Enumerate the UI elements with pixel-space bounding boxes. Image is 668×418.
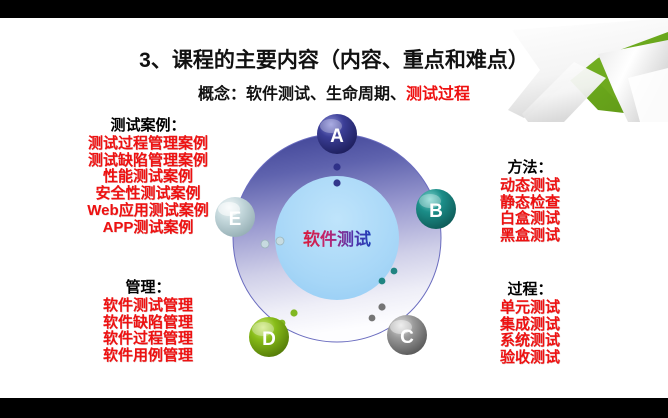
page-title: 3、课程的主要内容（内容、重点和难点） [0, 44, 668, 74]
node-a-label: A [330, 126, 344, 147]
block-item: 验收测试 [440, 350, 620, 367]
letterbox-bottom [0, 398, 668, 418]
block-item: 黑盒测试 [440, 228, 620, 245]
block-item: 系统测试 [440, 333, 620, 350]
cycle-diagram: 软件测试 A B C [212, 113, 462, 363]
subtitle-highlight: 测试过程 [406, 86, 470, 103]
node-e-label: E [229, 209, 242, 230]
block-management: 管理： 软件测试管理 软件缺陷管理 软件过程管理 软件用例管理 [58, 280, 238, 365]
slide-root: 3、课程的主要内容（内容、重点和难点） 概念：软件测试、生命周期、测试过程 测试… [0, 0, 668, 418]
letterbox-top [0, 0, 668, 18]
block-item: 软件过程管理 [58, 331, 238, 348]
node-b-label: B [429, 201, 443, 222]
node-e[interactable]: E [215, 197, 255, 237]
block-item: 动态测试 [440, 178, 620, 195]
block-item: 白盒测试 [440, 211, 620, 228]
block-item: 软件缺陷管理 [58, 315, 238, 332]
block-item: 静态检查 [440, 195, 620, 212]
block-item: 软件测试管理 [58, 298, 238, 315]
subtitle-plain: 概念：软件测试、生命周期、 [198, 86, 406, 103]
block-process: 过程： 单元测试 集成测试 系统测试 验收测试 [440, 282, 620, 367]
node-b[interactable]: B [416, 189, 456, 229]
node-a[interactable]: A [317, 114, 357, 154]
node-d[interactable]: D [249, 317, 289, 357]
block-item: 软件用例管理 [58, 348, 238, 365]
center-label: 软件测试 [303, 229, 371, 249]
block-item: 单元测试 [440, 300, 620, 317]
block-methods: 方法： 动态测试 静态检查 白盒测试 黑盒测试 [440, 160, 620, 245]
block-heading: 管理： [58, 280, 238, 297]
block-heading: 方法： [440, 160, 620, 177]
block-item: 集成测试 [440, 317, 620, 334]
node-c-label: C [400, 327, 414, 348]
page-subtitle: 概念：软件测试、生命周期、测试过程 [0, 80, 668, 104]
slide-canvas: 3、课程的主要内容（内容、重点和难点） 概念：软件测试、生命周期、测试过程 测试… [0, 18, 668, 398]
block-heading: 过程： [440, 282, 620, 299]
node-c[interactable]: C [387, 315, 427, 355]
node-d-label: D [262, 329, 276, 350]
